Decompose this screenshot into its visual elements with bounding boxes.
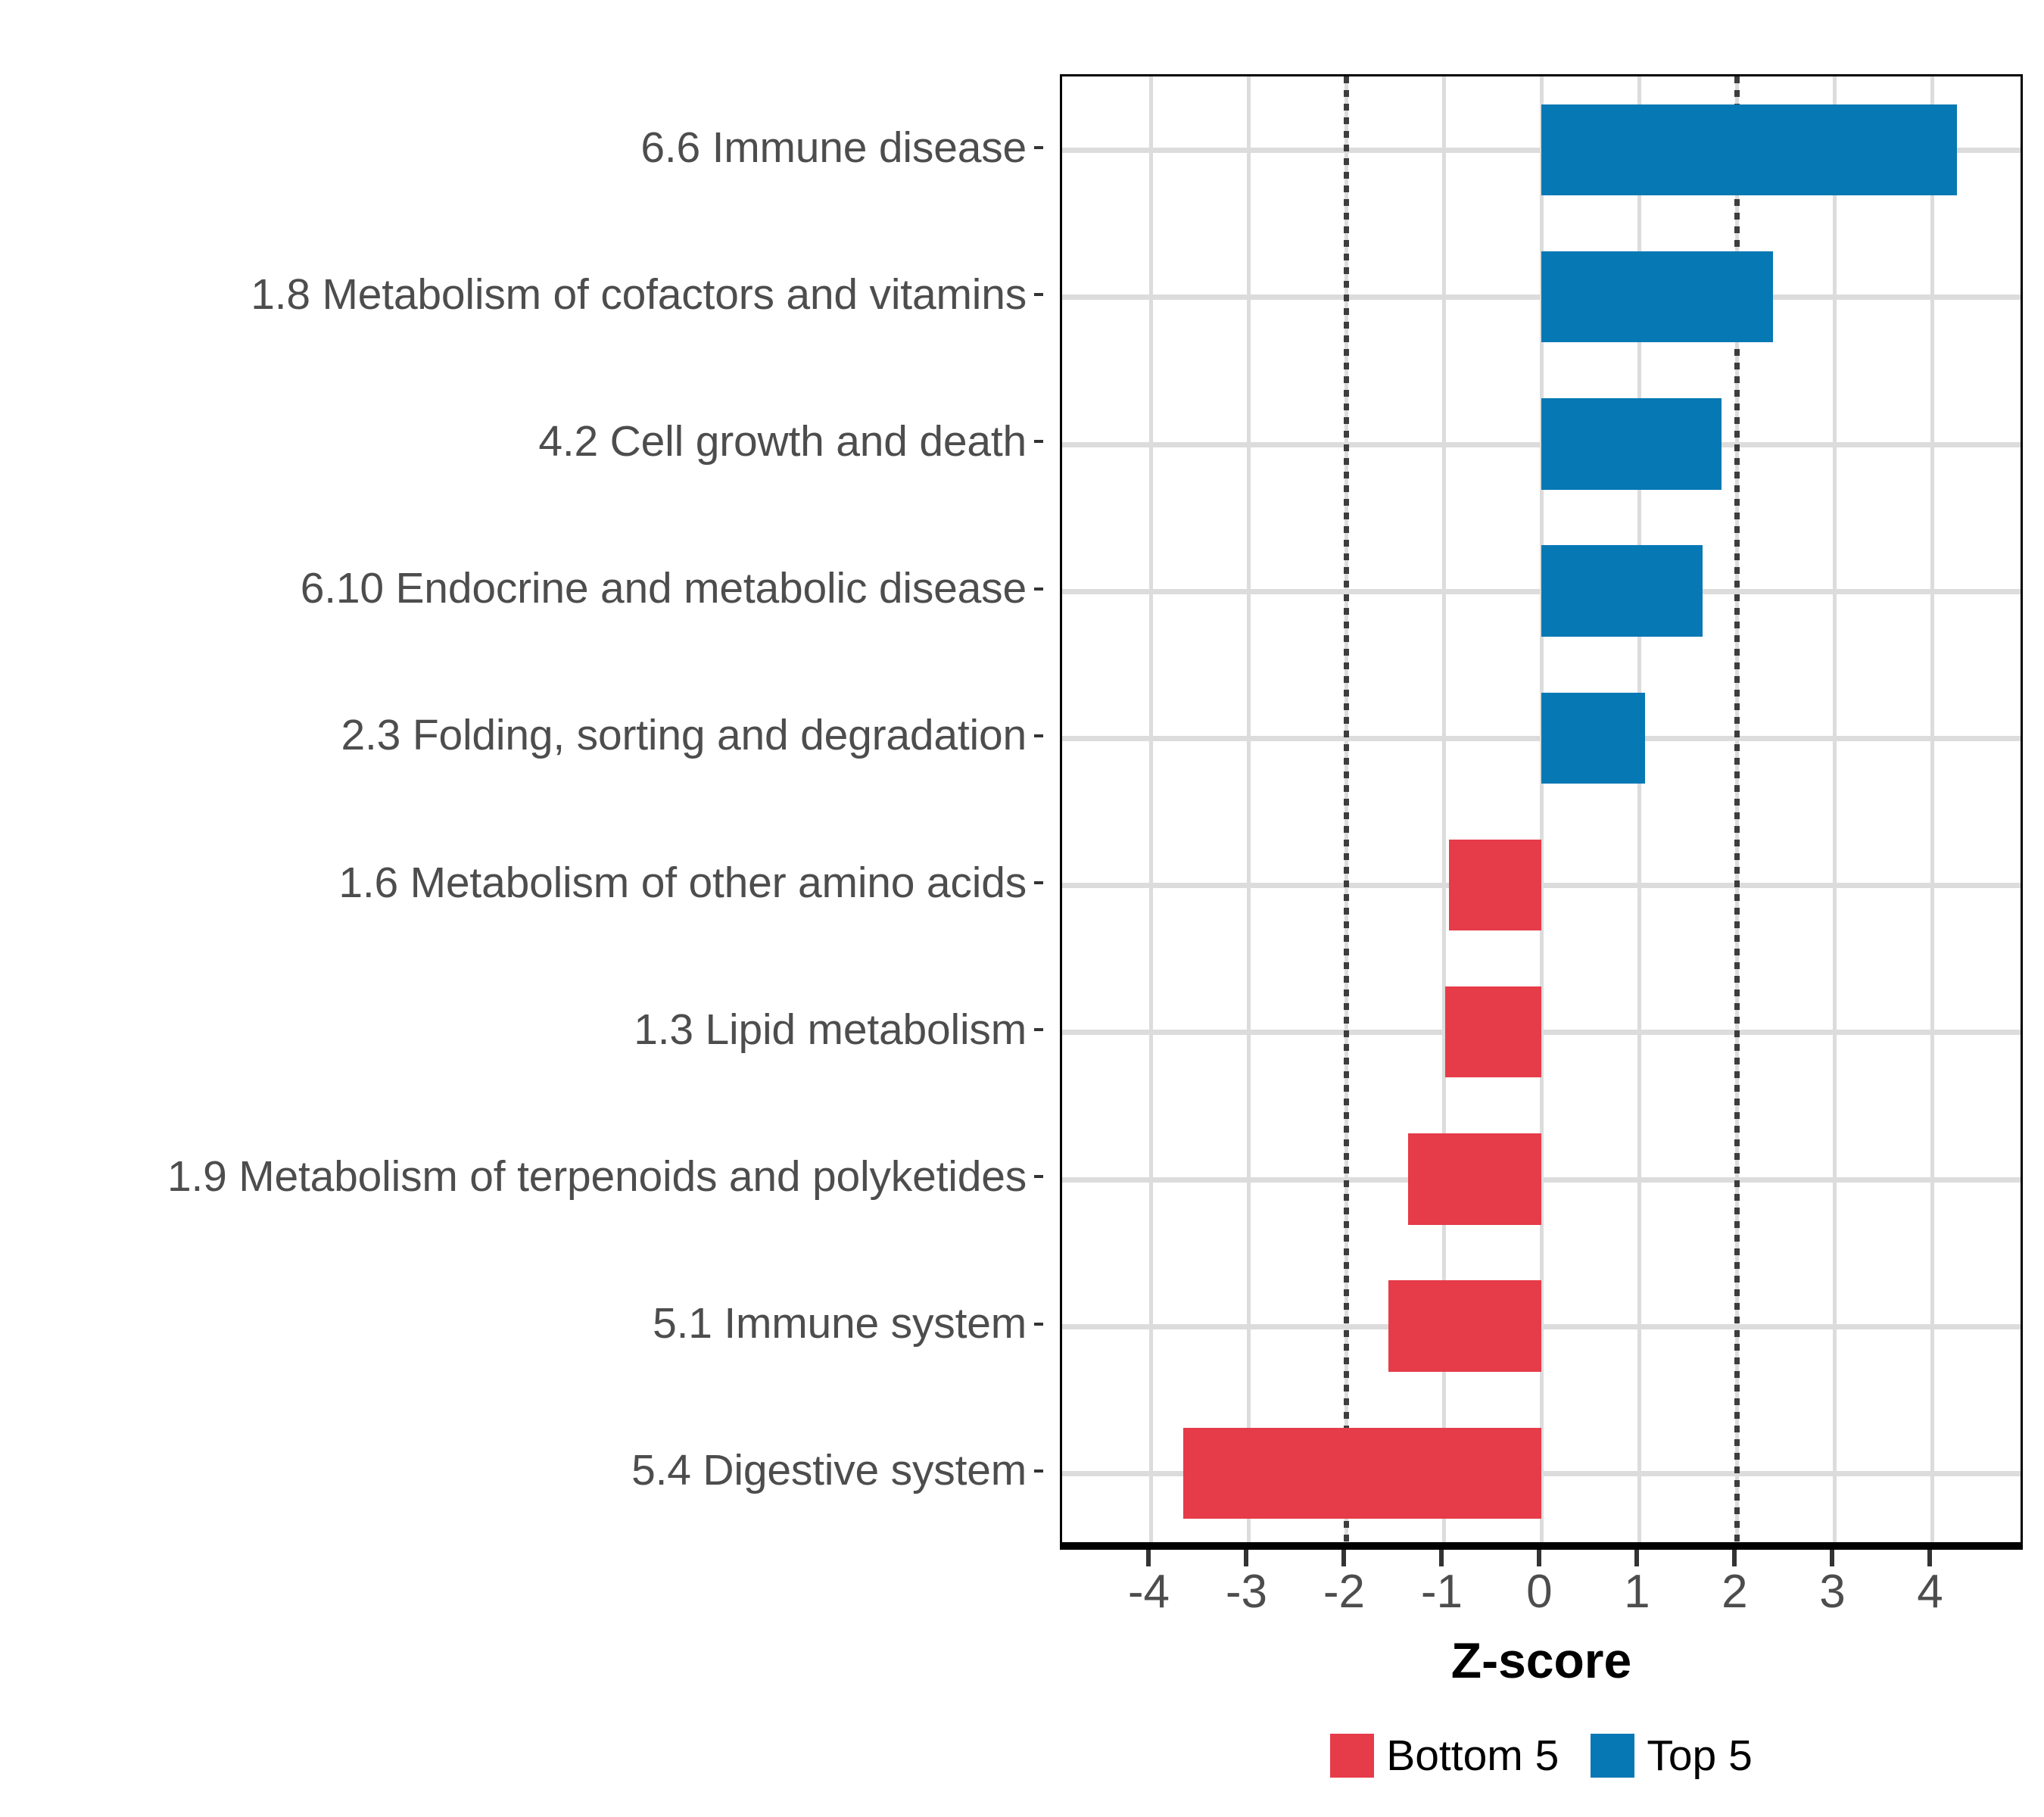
x-axis-tick-mark <box>1732 1550 1737 1566</box>
y-axis-tick-label-text: 1.3 Lipid metabolism <box>634 1008 1027 1052</box>
legend-swatch <box>1330 1734 1374 1778</box>
y-axis-tick-label-text: 6.6 Immune disease <box>640 126 1027 170</box>
x-axis-tick-label: -1 <box>1421 1569 1463 1616</box>
x-axis-title: Z-score <box>1060 1635 2023 1685</box>
y-axis-tick-label-text: 1.6 Metabolism of other amino acids <box>338 862 1027 905</box>
bar-negative[interactable] <box>1408 1133 1542 1224</box>
y-axis-tick-label: 1.3 Lipid metabolism <box>0 956 1043 1103</box>
plot-panel <box>1060 74 2023 1544</box>
x-axis-tick-label: 2 <box>1722 1569 1747 1616</box>
x-axis-tick-label: 4 <box>1917 1569 1943 1616</box>
y-axis-tick-label-text: 6.10 Endocrine and metabolic disease <box>301 567 1027 610</box>
bar-positive[interactable] <box>1541 398 1721 489</box>
x-axis-tick-label: -3 <box>1226 1569 1267 1616</box>
bar-negative[interactable] <box>1388 1280 1542 1371</box>
x-axis-tick-mark <box>1439 1550 1444 1566</box>
x-axis-tick-label: 3 <box>1819 1569 1845 1616</box>
y-axis-tick-label: 1.8 Metabolism of cofactors and vitamins <box>0 221 1043 368</box>
bar-positive[interactable] <box>1541 104 1956 195</box>
x-axis-tick-mark <box>1927 1550 1932 1566</box>
y-axis-tick-label: 1.9 Metabolism of terpenoids and polyket… <box>0 1103 1043 1250</box>
x-axis-tick-mark <box>1146 1550 1151 1566</box>
y-axis-tick-mark <box>1034 440 1043 443</box>
legend-item[interactable]: Bottom 5 <box>1330 1734 1559 1778</box>
y-axis-tick-mark <box>1034 1469 1043 1473</box>
legend-item[interactable]: Top 5 <box>1591 1734 1752 1778</box>
y-axis-tick-mark <box>1034 734 1043 737</box>
y-axis-tick-label: 6.10 Endocrine and metabolic disease <box>0 516 1043 662</box>
bar-positive[interactable] <box>1541 545 1703 636</box>
legend-label: Top 5 <box>1647 1734 1752 1778</box>
x-axis-tick-labels: -4-3-2-101234 <box>1060 1569 2023 1623</box>
bar-negative[interactable] <box>1183 1428 1541 1519</box>
x-axis-tick-label: -2 <box>1323 1569 1365 1616</box>
chart-figure: 6.6 Immune disease1.8 Metabolism of cofa… <box>0 0 2044 1817</box>
y-axis-tick-label-text: 1.8 Metabolism of cofactors and vitamins <box>251 273 1027 316</box>
reference-line <box>1344 76 1349 1542</box>
y-axis-tick-mark <box>1034 146 1043 149</box>
x-axis-tick-mark <box>1341 1550 1346 1566</box>
y-axis-tick-label-text: 2.3 Folding, sorting and degradation <box>341 714 1027 757</box>
y-axis-tick-mark <box>1034 1028 1043 1031</box>
y-axis-tick-label: 2.3 Folding, sorting and degradation <box>0 662 1043 809</box>
x-axis-tick-label: -4 <box>1128 1569 1170 1616</box>
y-axis-tick-label-text: 5.4 Digestive system <box>631 1449 1027 1492</box>
bar-positive[interactable] <box>1541 251 1773 342</box>
legend-swatch <box>1591 1734 1634 1778</box>
y-axis-tick-mark <box>1034 587 1043 591</box>
y-axis-tick-mark <box>1034 1175 1043 1178</box>
x-axis-ticks <box>1060 1550 2023 1566</box>
y-axis-tick-label: 1.6 Metabolism of other amino acids <box>0 809 1043 956</box>
x-axis-tick-mark <box>1830 1550 1834 1566</box>
x-axis-tick-label: 1 <box>1624 1569 1650 1616</box>
bar-negative[interactable] <box>1449 840 1542 930</box>
y-axis-tick-label: 6.6 Immune disease <box>0 74 1043 221</box>
y-axis-tick-label: 4.2 Cell growth and death <box>0 368 1043 515</box>
x-axis-tick-mark <box>1537 1550 1541 1566</box>
y-axis-labels: 6.6 Immune disease1.8 Metabolism of cofa… <box>0 74 1043 1544</box>
y-axis-tick-mark <box>1034 881 1043 884</box>
y-axis-tick-label: 5.1 Immune system <box>0 1251 1043 1398</box>
x-axis-tick-mark <box>1634 1550 1639 1566</box>
y-axis-tick-label-text: 4.2 Cell growth and death <box>538 420 1027 463</box>
legend-label: Bottom 5 <box>1386 1734 1559 1778</box>
y-axis-tick-label-text: 5.1 Immune system <box>653 1302 1027 1345</box>
y-axis-tick-mark <box>1034 293 1043 296</box>
x-axis-line <box>1060 1544 2023 1550</box>
y-axis-tick-label: 5.4 Digestive system <box>0 1398 1043 1544</box>
bar-negative[interactable] <box>1445 986 1542 1077</box>
y-axis-tick-label-text: 1.9 Metabolism of terpenoids and polyket… <box>167 1155 1027 1198</box>
x-axis-tick-label: 0 <box>1526 1569 1552 1616</box>
y-axis-tick-mark <box>1034 1323 1043 1326</box>
chart-legend: Bottom 5Top 5 <box>1060 1734 2023 1778</box>
bar-positive[interactable] <box>1541 693 1645 784</box>
x-axis-tick-mark <box>1244 1550 1248 1566</box>
